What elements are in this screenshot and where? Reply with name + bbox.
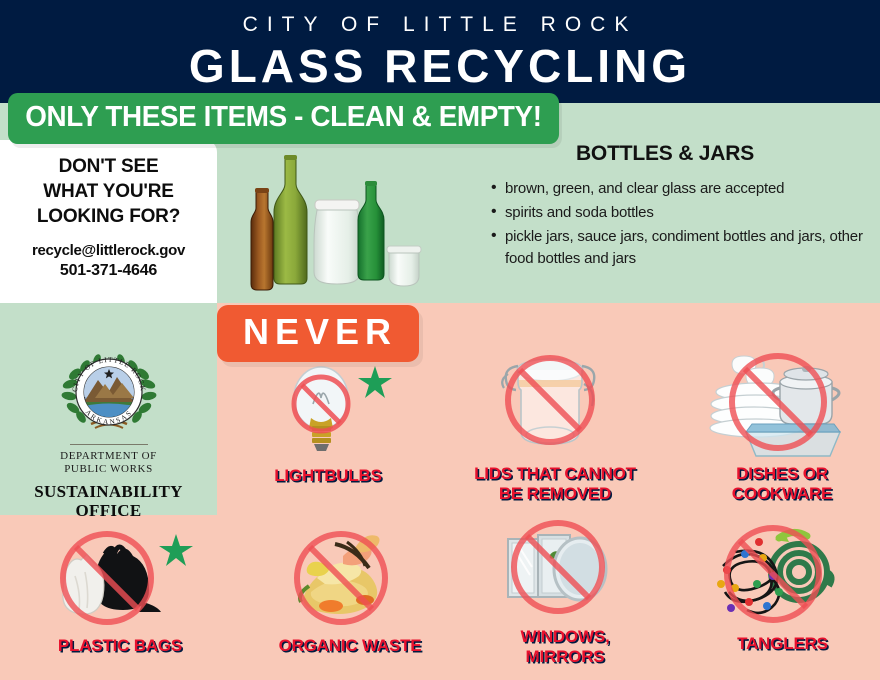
accepted-items-banner: ONLY THESE ITEMS - CLEAN & EMPTY! [8,93,582,144]
list-item: pickle jars, sauce jars, condiment bottl… [491,226,875,270]
plastic-bags-art [45,520,195,632]
list-item: spirits and soda bottles [491,202,875,224]
clamp-lid-jar-art [480,340,620,460]
city-of-little-rock-seal-icon: CITY OF LITTLE ROCK ARKANSAS [55,340,163,438]
accepted-items-section: BOTTLES & JARS brown, green, and clear g… [455,142,875,272]
page-title: GLASS RECYCLING [0,39,880,93]
contact-question: DON'T SEE WHAT YOU'RE LOOKING FOR? [0,154,217,229]
never-item-lightbulbs: LIGHTBULBS [248,352,408,486]
tanglers-icon [701,518,851,630]
never-item-label: LIGHTBULBS [248,466,408,486]
department-label: DEPARTMENT OF PUBLIC WORKS [0,450,217,476]
never-badge: NEVER [217,305,419,362]
plastic-bags-icon [45,520,195,632]
sustainability-office-label: SUSTAINABILITY OFFICE [0,482,217,520]
window-mirror-icon [488,515,628,623]
accepted-items-list: brown, green, and clear glass are accept… [455,178,875,270]
contact-question-line3: LOOKING FOR? [0,204,217,229]
contact-question-line1: DON'T SEE [0,154,217,179]
glass-containers-illustration [232,152,432,295]
list-item: brown, green, and clear glass are accept… [491,178,875,200]
header-kicker: CITY OF LITTLE ROCK [0,13,880,37]
dishes-cookware-art [698,340,858,460]
clamp-lid-jar-icon [480,340,620,460]
tanglers-art [701,518,851,630]
city-seal-block: CITY OF LITTLE ROCK ARKANSAS DEPARTMENT … [0,340,217,520]
never-item-label: PLASTIC BAGS [30,636,210,656]
never-item-plastic-bags: PLASTIC BAGS [30,520,210,656]
never-item-windows-mirrors: WINDOWS, MIRRORS [480,515,650,667]
never-item-dishes: DISHES OR COOKWARE [692,340,872,504]
accepted-items-heading: BOTTLES & JARS [455,142,875,166]
lightbulb-icon [263,352,393,462]
contact-card: DON'T SEE WHAT YOU'RE LOOKING FOR? recyc… [0,140,217,303]
never-item-label: TANGLERS [695,634,870,654]
header-banner: CITY OF LITTLE ROCK GLASS RECYCLING [0,0,880,103]
window-mirror-art [488,515,628,623]
never-item-label: ORGANIC WASTE [255,636,445,656]
never-item-organic-waste: ORGANIC WASTE [255,520,445,656]
contact-phone[interactable]: 501-371-4646 [0,262,217,280]
office-line2: OFFICE [0,501,217,520]
never-item-label: DISHES OR COOKWARE [692,464,872,504]
seal-divider [70,444,148,445]
organic-waste-icon [273,520,423,632]
never-item-tanglers: TANGLERS [695,518,870,654]
accepted-items-banner-label: ONLY THESE ITEMS - CLEAN & EMPTY! [8,93,559,144]
dishes-cookware-icon [698,340,858,460]
lightbulb-art [263,352,393,462]
accepted-items-photo [232,152,432,295]
never-item-lids: LIDS THAT CANNOT BE REMOVED [470,340,640,504]
contact-email[interactable]: recycle@littlerock.gov [0,242,217,259]
office-line1: SUSTAINABILITY [0,482,217,501]
organic-waste-art [273,520,423,632]
never-item-label: LIDS THAT CANNOT BE REMOVED [470,464,640,504]
contact-question-line2: WHAT YOU'RE [0,179,217,204]
never-item-label: WINDOWS, MIRRORS [480,627,650,667]
